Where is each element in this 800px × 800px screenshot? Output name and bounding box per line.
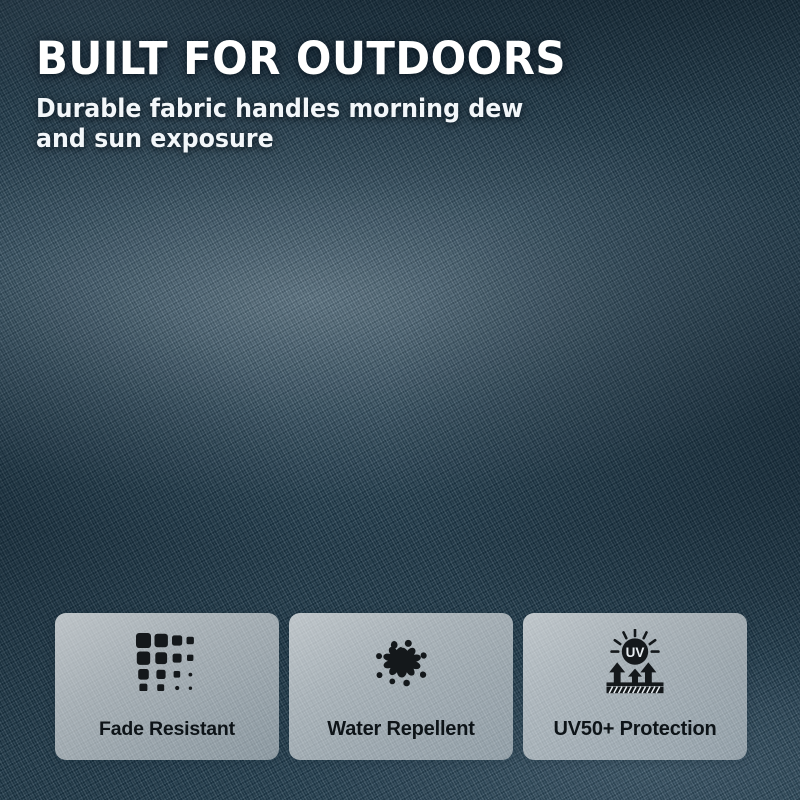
feature-label-water-repellent: Water Repellent: [289, 718, 513, 741]
fade-grid-icon: [136, 629, 198, 695]
feature-label-uv-protection: UV50+ Protection: [523, 718, 747, 741]
feature-card-row: Fade Resistant: [55, 613, 747, 760]
feature-card-uv-protection[interactable]: UV: [523, 613, 747, 760]
subtitle-line-1: Durable fabric handles morning dew: [36, 94, 523, 124]
subtitle: Durable fabric handles morning dew and s…: [36, 95, 594, 154]
feature-card-water-repellent[interactable]: Water Repellent: [289, 613, 513, 760]
headline-block: BUILT FOR OUTDOORS Durable fabric handle…: [36, 36, 696, 154]
promo-banner: BUILT FOR OUTDOORS Durable fabric handle…: [0, 0, 800, 800]
subtitle-line-2: and sun exposure: [36, 124, 274, 154]
uv-icon-text: UV: [626, 645, 645, 660]
feature-card-fade-resistant[interactable]: Fade Resistant: [55, 613, 279, 760]
feature-label-fade-resistant: Fade Resistant: [55, 718, 279, 741]
uv-sun-shield-icon: UV: [597, 629, 673, 695]
water-splash-icon: [370, 629, 432, 695]
page-title: BUILT FOR OUTDOORS: [36, 36, 650, 81]
